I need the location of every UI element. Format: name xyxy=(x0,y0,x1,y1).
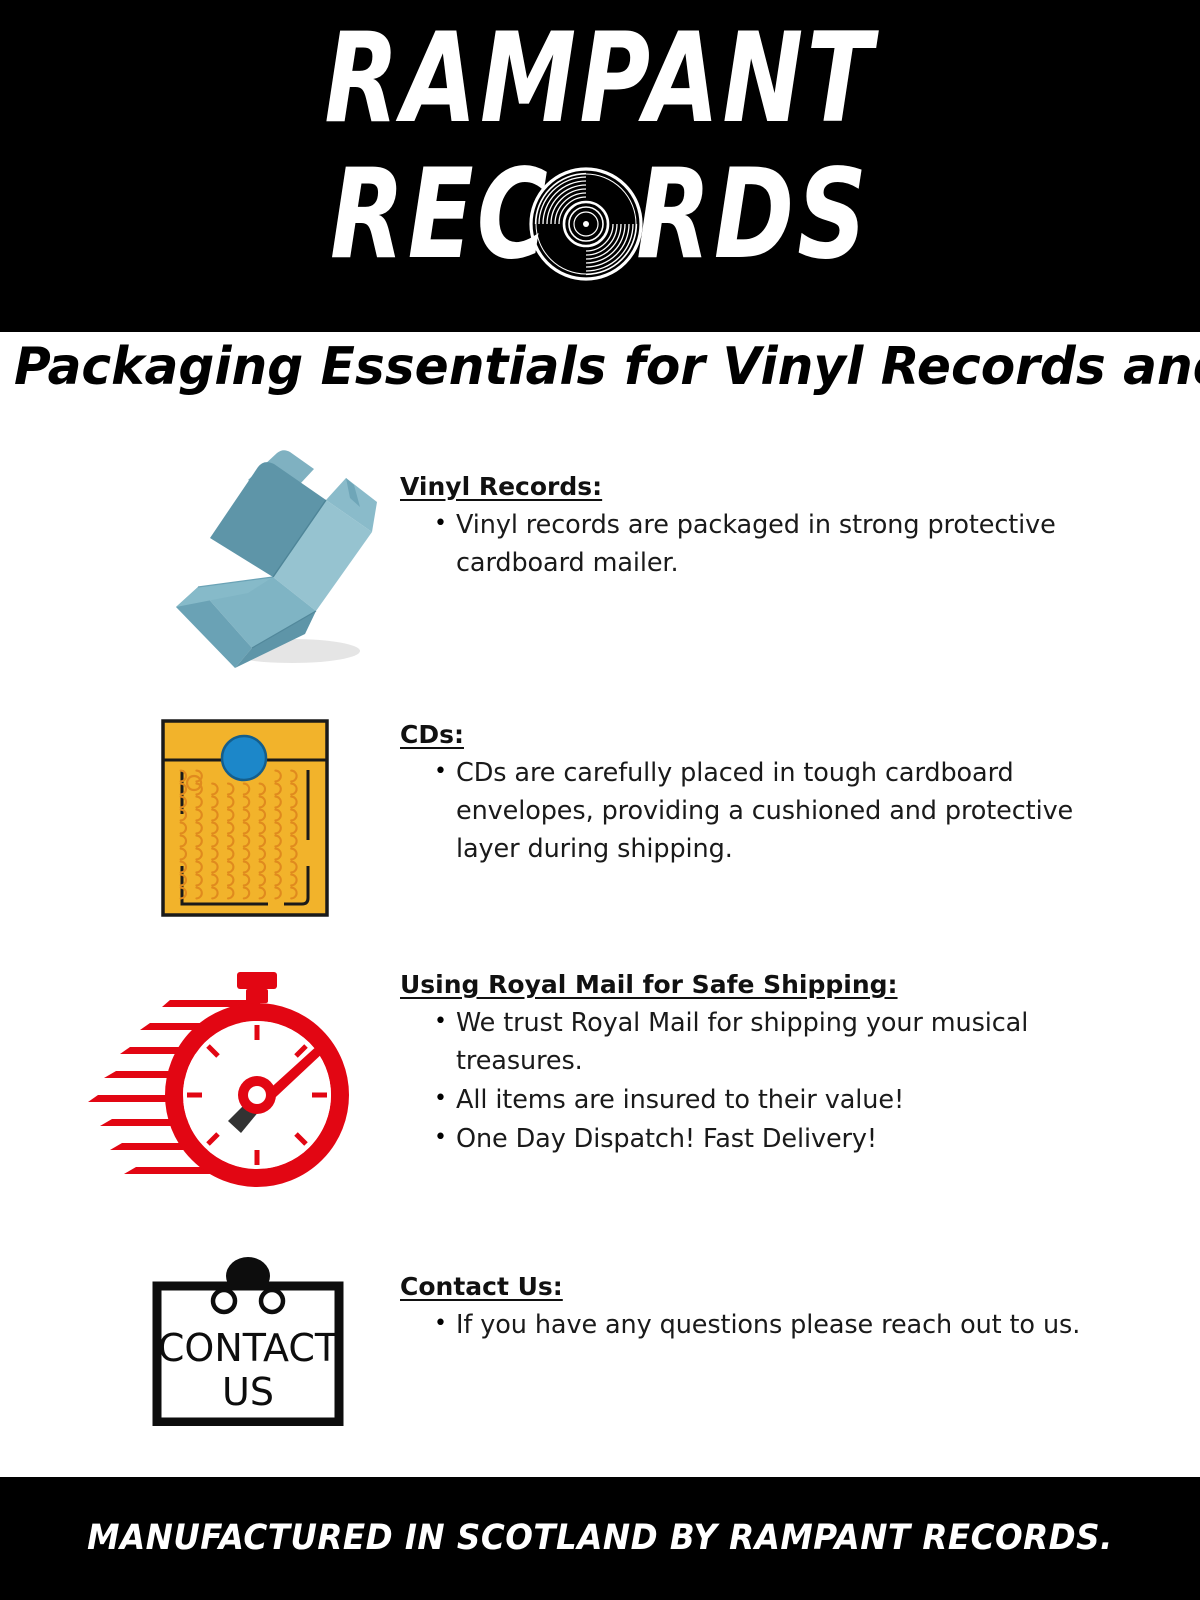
list-item: One Day Dispatch! Fast Delivery! xyxy=(434,1120,1100,1158)
page-subtitle: Packaging Essentials for Vinyl Records a… xyxy=(14,336,1145,398)
section-heading: Vinyl Records: xyxy=(400,472,1100,502)
section-heading: CDs: xyxy=(400,720,1100,750)
vinyl-record-icon xyxy=(528,166,644,282)
brand-name-line2-before: REC xyxy=(330,143,551,287)
brand-logo: RAMPANT RECORDS xyxy=(0,0,1200,332)
list-item: CDs are carefully placed in tough cardbo… xyxy=(434,754,1100,868)
brand-name-line2-after: RDS xyxy=(636,143,870,287)
poster-canvas: RAMPANT RECORDS xyxy=(0,0,1200,1600)
stopwatch-speed-icon xyxy=(78,965,358,1195)
section-heading: Contact Us: xyxy=(400,1272,1100,1302)
footer-text: MANUFACTURED IN SCOTLAND BY RAMPANT RECO… xyxy=(42,1477,1158,1600)
contact-sign-line2: US xyxy=(222,1370,274,1414)
hanging-sign-icon: CONTACT US xyxy=(150,1228,346,1426)
list-item: Vinyl records are packaged in strong pro… xyxy=(434,506,1100,582)
section-royal-mail: Using Royal Mail for Safe Shipping: We t… xyxy=(400,970,1100,1159)
section-bullet-list: We trust Royal Mail for shipping your mu… xyxy=(400,1004,1100,1158)
list-item: If you have any questions please reach o… xyxy=(434,1306,1100,1344)
padded-envelope-icon xyxy=(160,718,330,918)
list-item: We trust Royal Mail for shipping your mu… xyxy=(434,1004,1100,1080)
section-vinyl-records: Vinyl Records: Vinyl records are package… xyxy=(400,472,1100,583)
list-item: All items are insured to their value! xyxy=(434,1081,1100,1119)
section-bullet-list: Vinyl records are packaged in strong pro… xyxy=(400,506,1100,582)
section-heading: Using Royal Mail for Safe Shipping: xyxy=(400,970,1100,1000)
contact-sign-line1: CONTACT xyxy=(158,1326,339,1370)
section-contact-us: Contact Us: If you have any questions pl… xyxy=(400,1272,1100,1345)
section-bullet-list: CDs are carefully placed in tough cardbo… xyxy=(400,754,1100,868)
brand-name-line1: RAMPANT xyxy=(132,14,1068,144)
section-bullet-list: If you have any questions please reach o… xyxy=(400,1306,1100,1344)
section-cds: CDs: CDs are carefully placed in tough c… xyxy=(400,720,1100,869)
cardboard-mailer-box-icon xyxy=(140,425,390,680)
